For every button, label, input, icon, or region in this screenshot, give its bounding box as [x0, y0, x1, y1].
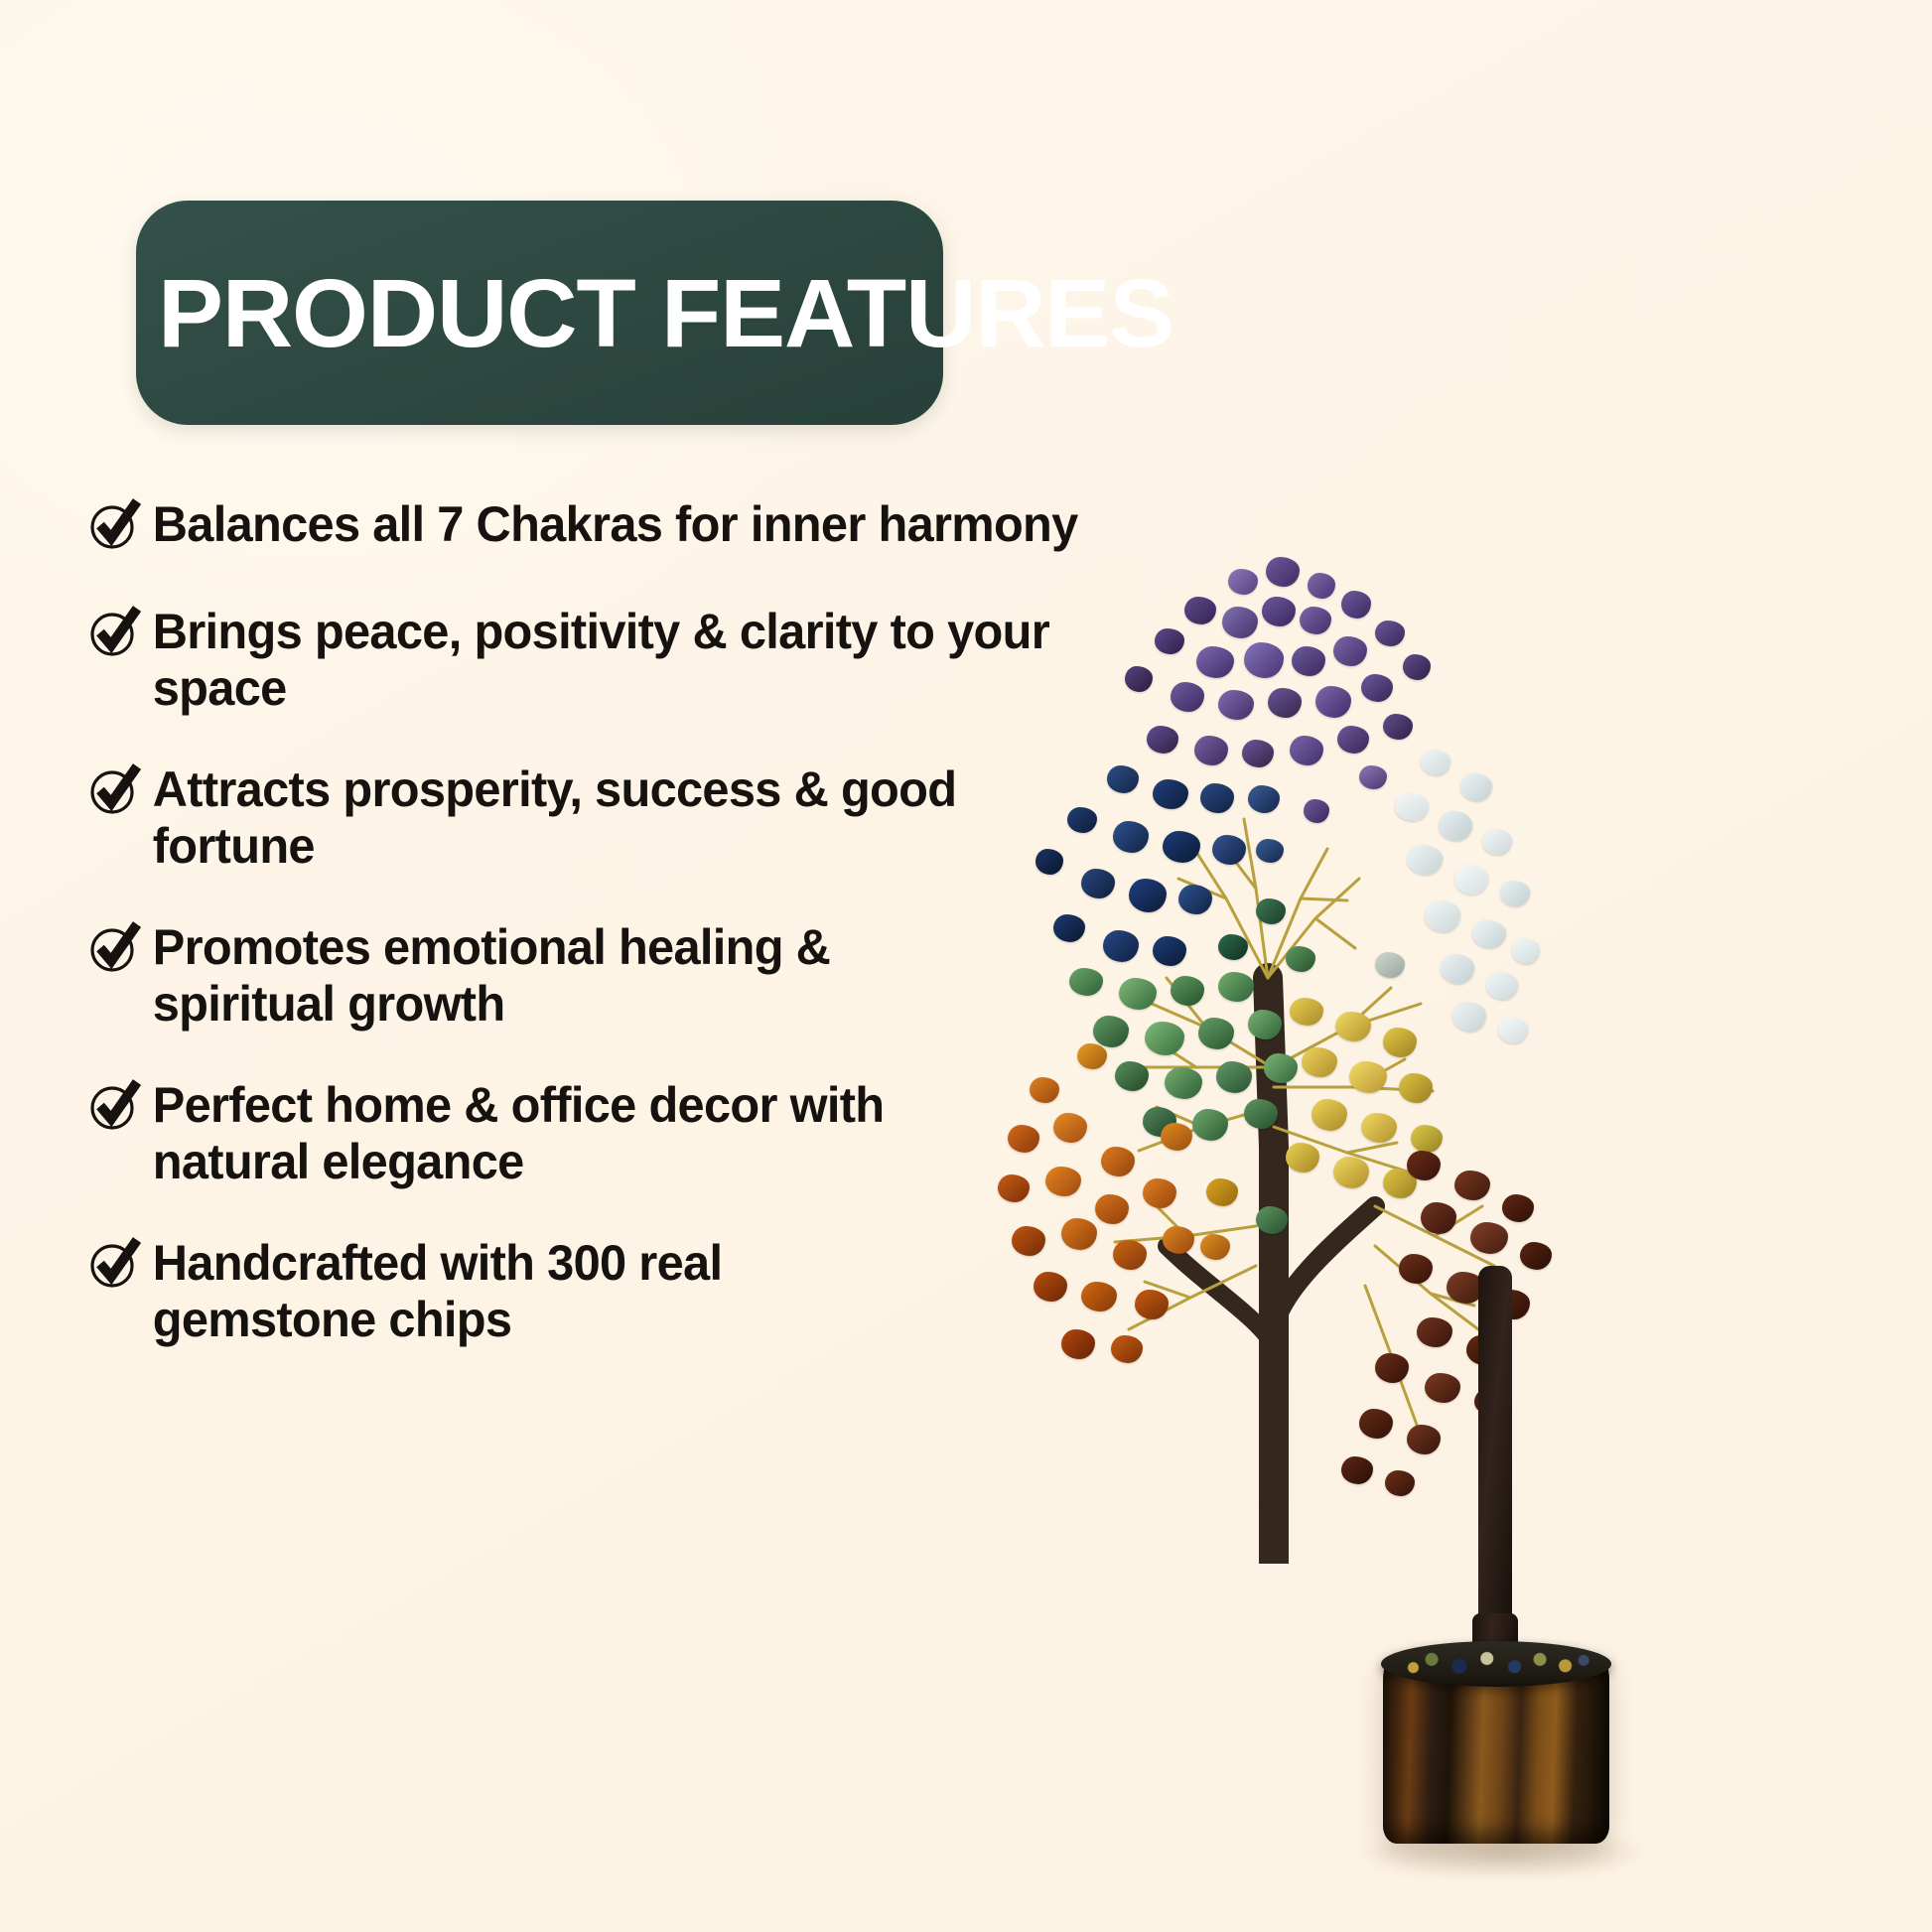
circle-check-icon [85, 1081, 143, 1139]
circle-check-icon [85, 765, 143, 823]
feature-label: Attracts prosperity, success & good fort… [143, 761, 1084, 874]
feature-item: Balances all 7 Chakras for inner harmony [85, 496, 1108, 558]
circle-check-icon [85, 923, 143, 981]
feature-item: Brings peace, positivity & clarity to yo… [85, 604, 1108, 716]
feature-item: Perfect home & office decor with natural… [85, 1077, 1108, 1189]
page-canvas: PRODUCT FEATURES Balances all 7 Chakras … [0, 0, 1932, 1932]
feature-item: Promotes emotional healing & spiritual g… [85, 919, 1108, 1032]
tree-trunk [1478, 1266, 1512, 1663]
feature-label: Promotes emotional healing & spiritual g… [143, 919, 1005, 1032]
feature-item: Handcrafted with 300 real gemstone chips [85, 1235, 1108, 1347]
feature-label: Handcrafted with 300 real gemstone chips [143, 1235, 956, 1347]
feature-item: Attracts prosperity, success & good fort… [85, 761, 1108, 874]
feature-label: Brings peace, positivity & clarity to yo… [143, 604, 1084, 716]
feature-label: Balances all 7 Chakras for inner harmony [143, 496, 1084, 553]
circle-check-icon [85, 1239, 143, 1297]
circle-check-icon [85, 608, 143, 665]
circle-check-icon [85, 500, 143, 558]
product-features-banner: PRODUCT FEATURES [136, 201, 943, 425]
page-title: PRODUCT FEATURES [158, 265, 1173, 361]
gemstone-tree-pot [1375, 1584, 1633, 1881]
feature-list: Balances all 7 Chakras for inner harmony… [85, 496, 1108, 1347]
feature-label: Perfect home & office decor with natural… [143, 1077, 1015, 1189]
pot-rim-gem-chips [1381, 1641, 1611, 1687]
